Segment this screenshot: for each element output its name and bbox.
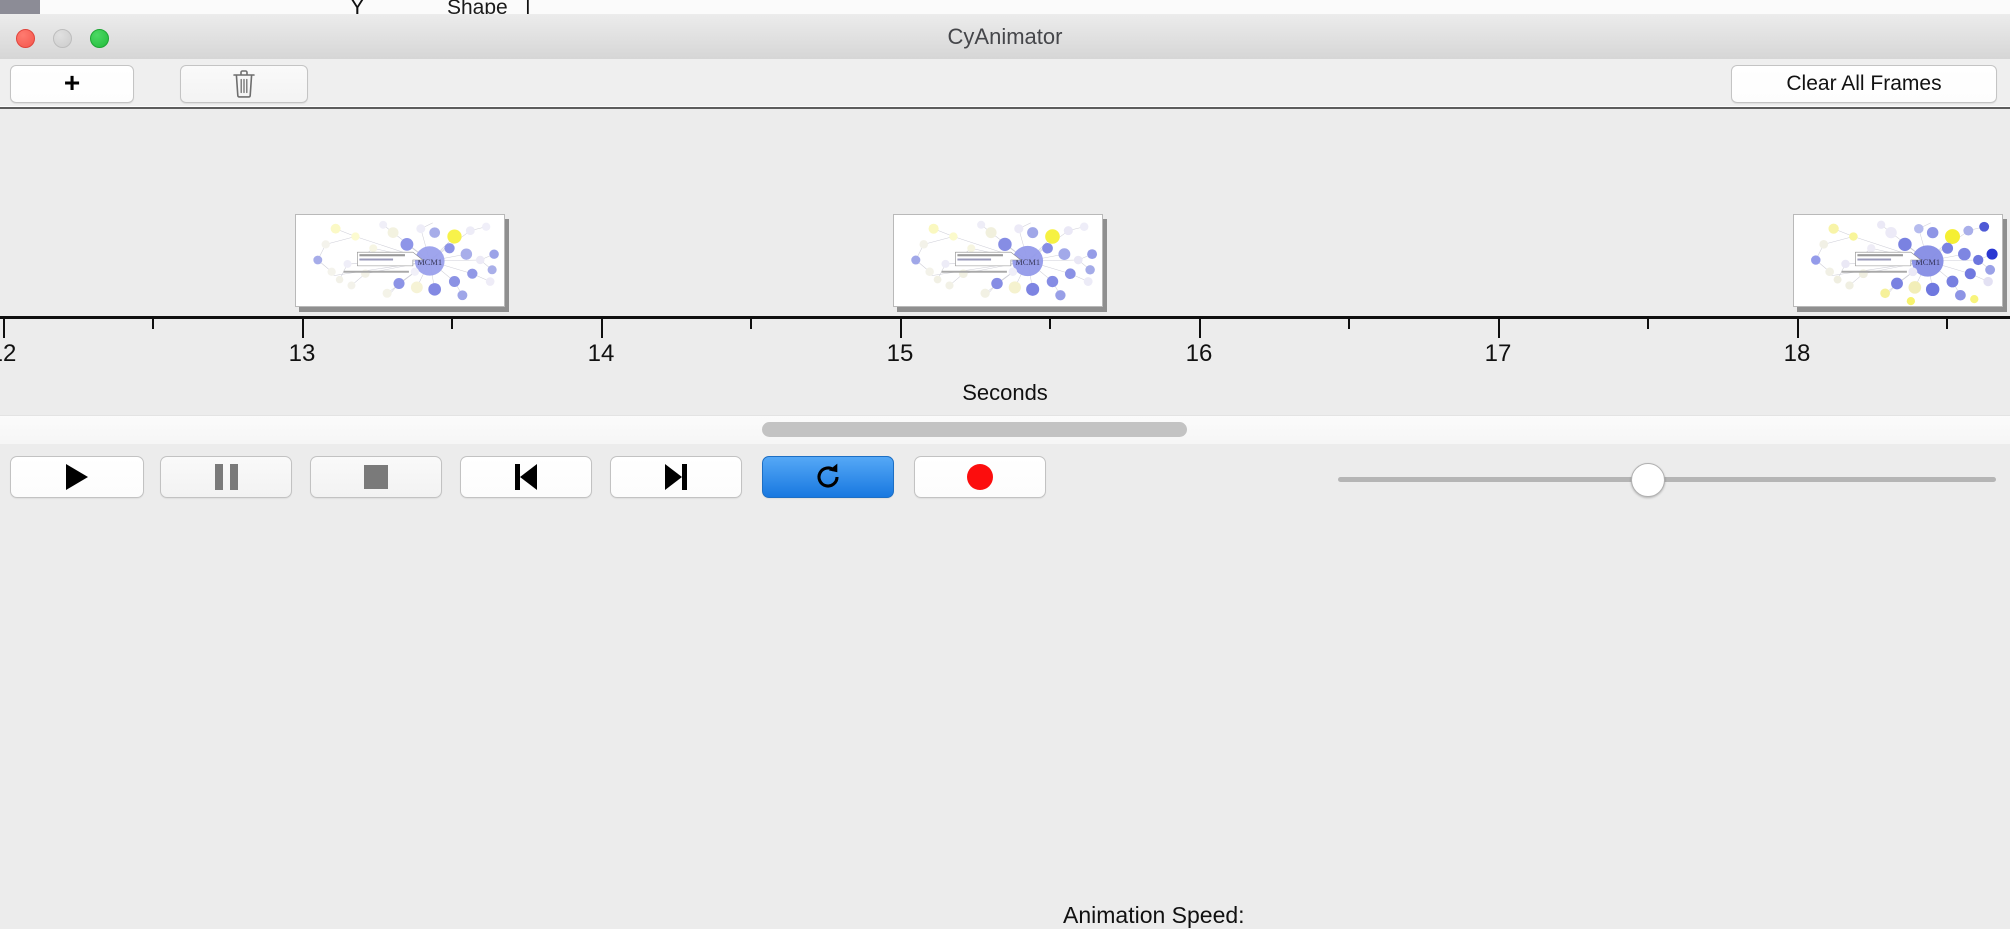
record-button[interactable]	[914, 456, 1046, 498]
ruler-tick-label: 15	[887, 340, 914, 368]
bg-segment	[118, 0, 181, 14]
stop-icon	[364, 465, 388, 489]
pause-button[interactable]	[160, 456, 292, 498]
network-thumbnail: MCM1	[894, 215, 1102, 306]
bg-segment	[1717, 0, 2010, 14]
bg-glyph: |	[525, 0, 531, 14]
ruler-tick-minor	[451, 319, 453, 329]
bg-segment	[180, 0, 243, 14]
ruler-tick-major	[1498, 319, 1500, 338]
ruler-tick-major	[900, 319, 902, 338]
title-bar: CyAnimator	[0, 14, 2010, 60]
bg-segment	[242, 0, 338, 14]
frame-plate: MCM1	[1793, 214, 2003, 307]
previous-frame-button[interactable]	[460, 456, 592, 498]
background-window-strip: Shape Y |	[0, 0, 2010, 14]
ruler-tick-major	[3, 319, 5, 338]
ruler-tick-label: 18	[1784, 340, 1811, 368]
bg-window-shape-label: Shape	[447, 0, 508, 14]
ruler-tick-label: 16	[1186, 340, 1213, 368]
bg-glyph: Y	[350, 0, 365, 14]
ruler-tick-label: 12	[0, 340, 16, 368]
network-thumbnail: MCM1	[1794, 215, 2002, 306]
bg-segment	[787, 0, 1198, 14]
ruler-tick-major	[1199, 319, 1201, 338]
ruler-tick-minor	[1946, 319, 1948, 329]
ruler-tick-major	[302, 319, 304, 338]
ruler-tick-minor	[152, 319, 154, 329]
frame-plate: MCM1	[893, 214, 1103, 307]
ruler-tick-minor	[1647, 319, 1649, 329]
horizontal-scrollbar[interactable]	[0, 415, 2010, 445]
trash-icon	[231, 69, 257, 99]
animation-speed-label: Animation Speed:	[1063, 902, 1245, 929]
bg-segment	[1197, 0, 1718, 14]
pause-icon	[215, 464, 238, 490]
delete-frame-button[interactable]	[180, 65, 308, 103]
clear-all-frames-label: Clear All Frames	[1786, 72, 1941, 96]
network-thumbnail: MCM1	[296, 215, 504, 306]
play-button[interactable]	[10, 456, 144, 498]
toolbar: + Clear All Frames	[0, 59, 2010, 106]
bg-segment	[0, 0, 41, 14]
ruler-tick-major	[601, 319, 603, 338]
ruler-tick-label: 17	[1485, 340, 1512, 368]
frame-thumbnail-15s[interactable]: MCM1	[893, 214, 1103, 307]
ruler-tick-label: 14	[588, 340, 615, 368]
ruler-tick-minor	[1348, 319, 1350, 329]
frame-thumbnail-18s[interactable]: MCM1	[1793, 214, 2003, 307]
scrollbar-thumb[interactable]	[762, 422, 1187, 437]
animation-speed-slider[interactable]	[1338, 477, 1996, 482]
plus-icon: +	[64, 69, 80, 97]
skip-previous-icon	[515, 464, 537, 490]
axis-title: Seconds	[0, 380, 2010, 406]
next-frame-button[interactable]	[610, 456, 742, 498]
record-icon	[967, 464, 993, 490]
loop-icon	[813, 462, 843, 492]
ruler-tick-minor	[750, 319, 752, 329]
bg-segment	[40, 0, 119, 14]
loop-button[interactable]	[762, 456, 894, 498]
skip-next-icon	[665, 464, 687, 490]
timeline-panel[interactable]: MCM1	[0, 109, 2010, 415]
play-icon	[66, 464, 88, 490]
ruler-tick-minor	[1049, 319, 1051, 329]
frame-thumbnail-13s[interactable]: MCM1	[295, 214, 505, 307]
stop-button[interactable]	[310, 456, 442, 498]
ruler-tick-label: 13	[289, 340, 316, 368]
slider-thumb[interactable]	[1631, 463, 1665, 497]
add-frame-button[interactable]: +	[10, 65, 134, 103]
window-title: CyAnimator	[0, 14, 2010, 59]
frame-plate: MCM1	[295, 214, 505, 307]
ruler-tick-major	[1797, 319, 1799, 338]
cyanimator-window: Shape Y | CyAnimator + Clear All Frames	[0, 0, 2010, 510]
clear-all-frames-button[interactable]: Clear All Frames	[1731, 65, 1997, 103]
